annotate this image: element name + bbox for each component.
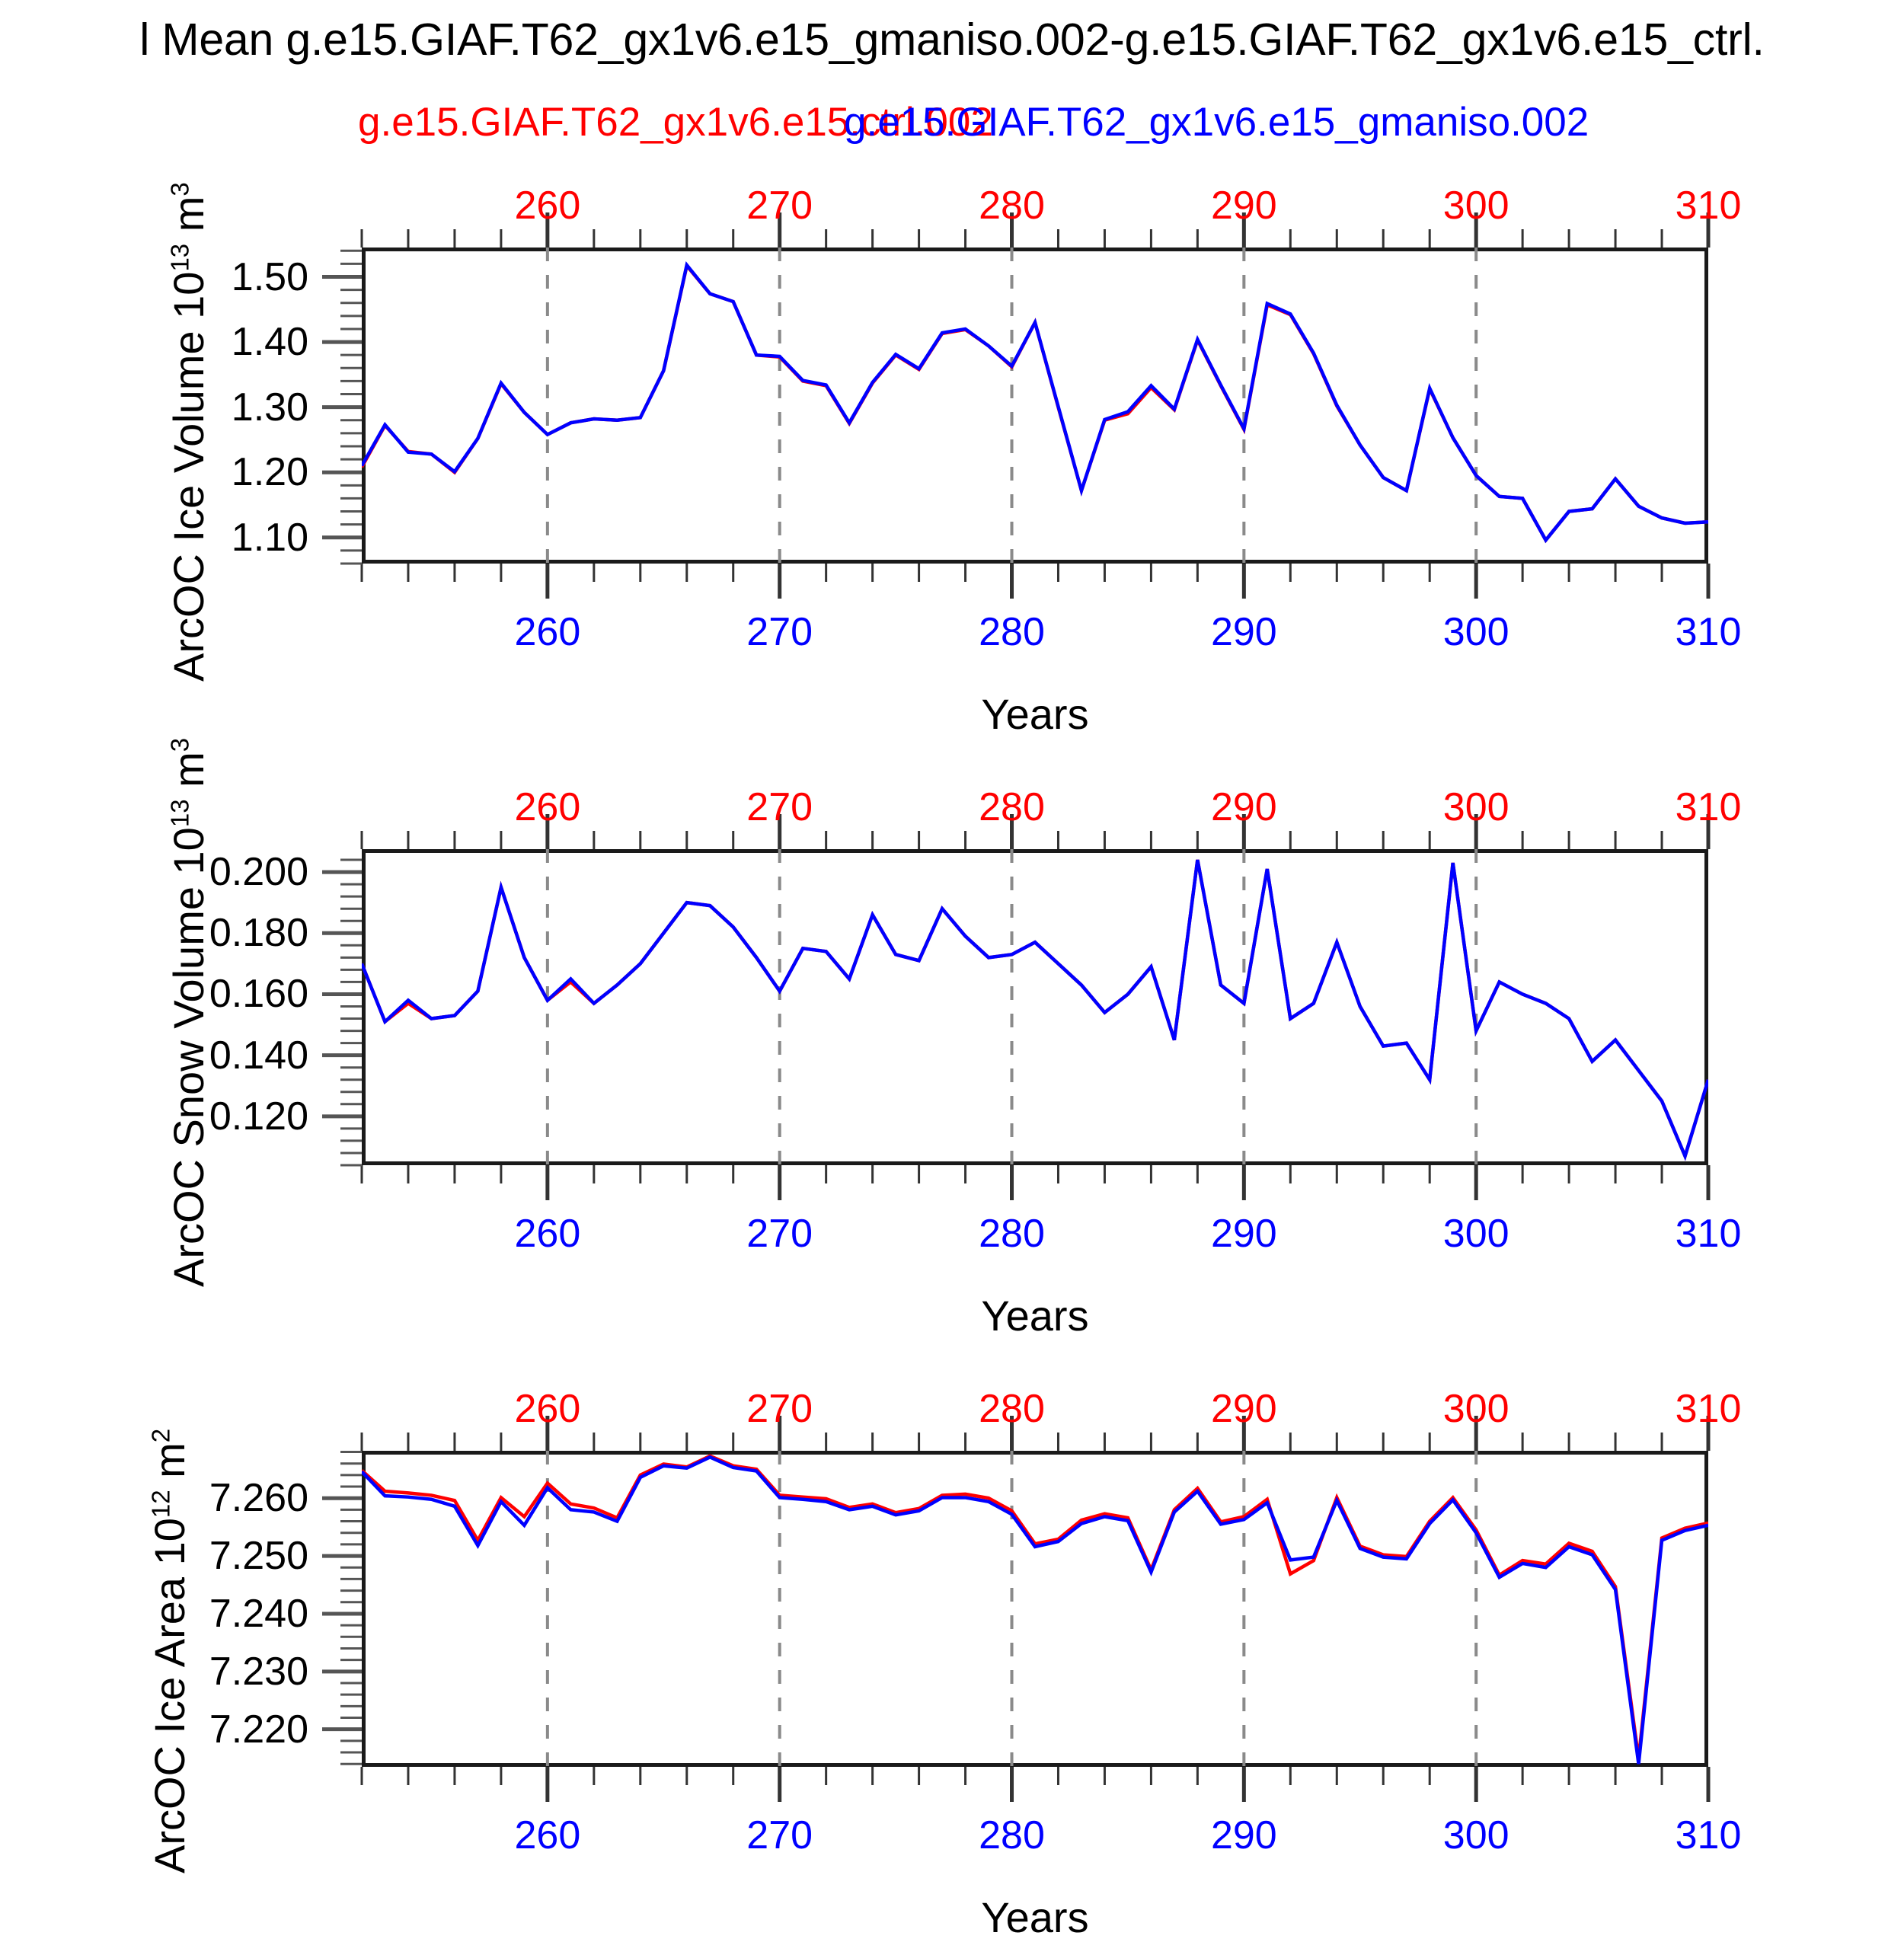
- plot-frame: [362, 849, 1708, 1165]
- x-tick-label-bottom: 280: [979, 1211, 1045, 1257]
- x-tick-label-bottom: 310: [1676, 1813, 1742, 1858]
- y-tick-label: 0.180: [4, 910, 308, 956]
- x-tick-label-top: 290: [1211, 183, 1277, 228]
- x-tick-label-top: 280: [979, 1386, 1045, 1432]
- x-tick-label-top: 280: [979, 183, 1045, 228]
- x-tick-label-bottom: 280: [979, 1813, 1045, 1858]
- x-tick-label-top: 310: [1676, 183, 1742, 228]
- y-tick-label: 1.30: [4, 385, 308, 430]
- x-tick-label-bottom: 290: [1211, 1813, 1277, 1858]
- x-tick-label-top: 270: [746, 183, 813, 228]
- x-tick-label-bottom: 270: [746, 609, 813, 655]
- x-tick-label-top: 300: [1443, 784, 1509, 830]
- x-tick-label-top: 300: [1443, 183, 1509, 228]
- x-tick-label-top: 290: [1211, 1386, 1277, 1432]
- x-tick-label-top: 310: [1676, 1386, 1742, 1432]
- x-tick-label-top: 270: [746, 1386, 813, 1432]
- x-tick-label-bottom: 270: [746, 1813, 813, 1858]
- figure-title: l Mean g.e15.GIAF.T62_gx1v6.e15_gmaniso.…: [139, 14, 1764, 65]
- x-tick-label-top: 310: [1676, 784, 1742, 830]
- x-tick-label-bottom: 290: [1211, 609, 1277, 655]
- y-tick-label: 0.140: [4, 1033, 308, 1078]
- x-tick-label-top: 280: [979, 784, 1045, 830]
- x-tick-label-top: 300: [1443, 1386, 1509, 1432]
- x-axis-title: Years: [981, 1291, 1088, 1340]
- x-tick-label-top: 290: [1211, 784, 1277, 830]
- y-tick-label: 1.40: [4, 319, 308, 365]
- x-tick-label-top: 260: [514, 183, 580, 228]
- y-axis-title: ArcOC Ice Volume 1013 m3: [164, 182, 213, 682]
- y-tick-label: 0.200: [4, 849, 308, 895]
- y-tick-label: 0.160: [4, 971, 308, 1017]
- x-tick-label-bottom: 270: [746, 1211, 813, 1257]
- x-tick-label-bottom: 300: [1443, 1211, 1509, 1257]
- y-tick-label: 1.50: [4, 254, 308, 300]
- x-axis-title: Years: [981, 689, 1088, 739]
- x-tick-label-top: 260: [514, 1386, 580, 1432]
- x-tick-label-bottom: 260: [514, 1211, 580, 1257]
- legend-entry-gmaniso: g.e15.GIAF.T62_gx1v6.e15_gmaniso.002: [844, 99, 1589, 145]
- plot-frame: [362, 248, 1708, 564]
- x-tick-label-bottom: 280: [979, 609, 1045, 655]
- y-axis-title: ArcOC Ice Area 1012 m2: [145, 1429, 194, 1873]
- legend: g.e15.GIAF.T62_gx1v6.e15.ctrl.002 g.e15.…: [0, 99, 1904, 152]
- x-axis-title: Years: [981, 1892, 1088, 1942]
- figure-root: l Mean g.e15.GIAF.T62_gx1v6.e15_gmaniso.…: [0, 0, 1904, 1904]
- y-tick-label: 1.20: [4, 449, 308, 495]
- x-tick-label-bottom: 290: [1211, 1211, 1277, 1257]
- x-tick-label-bottom: 310: [1676, 1211, 1742, 1257]
- x-tick-label-top: 270: [746, 784, 813, 830]
- plot-frame: [362, 1451, 1708, 1767]
- x-tick-label-bottom: 260: [514, 1813, 580, 1858]
- x-tick-label-bottom: 260: [514, 609, 580, 655]
- x-tick-label-bottom: 310: [1676, 609, 1742, 655]
- x-tick-label-bottom: 300: [1443, 609, 1509, 655]
- x-tick-label-top: 260: [514, 784, 580, 830]
- y-tick-label: 0.120: [4, 1094, 308, 1139]
- y-tick-label: 1.10: [4, 515, 308, 561]
- y-axis-title: ArcOC Snow Volume 1013 m3: [164, 738, 213, 1287]
- x-tick-label-bottom: 300: [1443, 1813, 1509, 1858]
